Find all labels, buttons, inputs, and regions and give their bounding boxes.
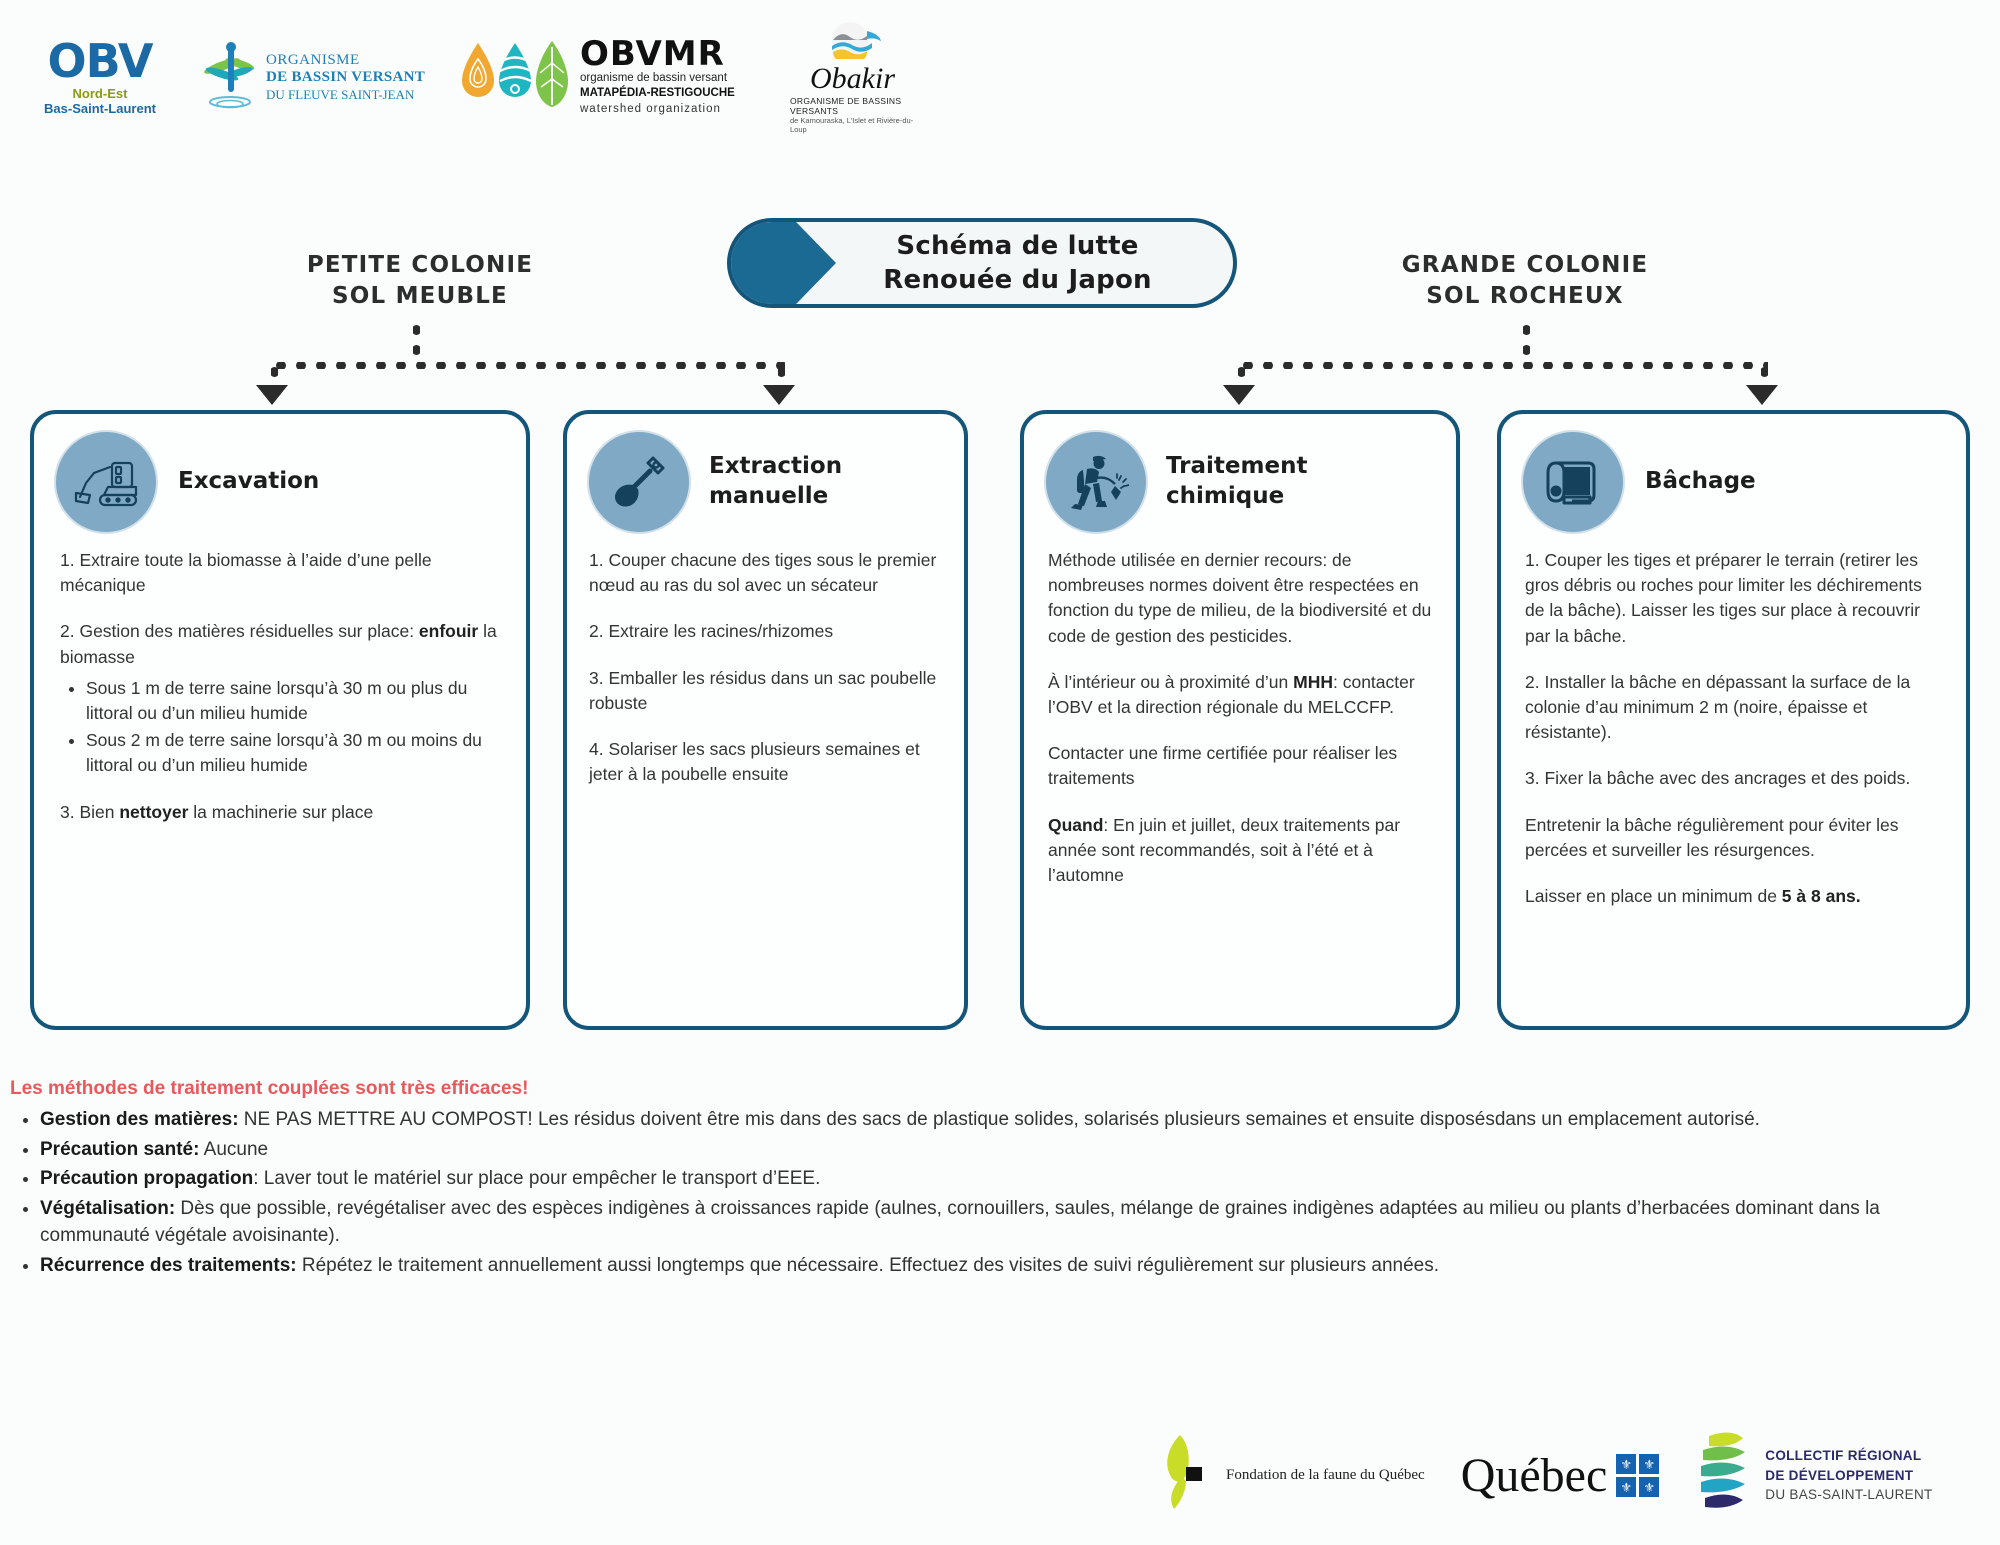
tarp-roll-icon [1523, 432, 1623, 532]
bird-leaf-icon [1160, 1433, 1216, 1518]
logo-obakir-line2: de Kamouraska, L'Islet et Rivière-du-Lou… [790, 116, 915, 134]
arrow-to-card-extraction [763, 385, 795, 405]
card-excavation-step-3: 3. Bien nettoyer la machinerie sur place [60, 800, 500, 825]
title-line2: Renouée du Japon [836, 263, 1199, 297]
card-extraction-step-2: 2. Extraire les racines/rhizomes [589, 619, 946, 644]
pesticide-sprayer-icon [1046, 432, 1146, 532]
title-line1: Schéma de lutte [836, 229, 1199, 263]
card-traitement-header: Traitementchimique [1024, 414, 1456, 532]
logo-sj-line2: DE BASSIN VERSANT [266, 69, 425, 87]
list-item: Récurrence des traitements: Répétez le t… [40, 1252, 1958, 1280]
card-traitement-title: Traitementchimique [1166, 452, 1307, 512]
card-traitement-body: Méthode utilisée en dernier recours: de … [1024, 532, 1456, 898]
group-left-line2: SOL MEUBLE [200, 281, 640, 312]
card-traitement-para-2: À l’intérieur ou à proximité d’un MHH: c… [1048, 670, 1438, 720]
notes-title: Les méthodes de traitement couplées sont… [10, 1078, 1958, 1100]
logo-quebec: Québec ⚜ ⚜ ⚜ ⚜ [1461, 1452, 1660, 1500]
card-bachage-header: Bâchage [1501, 414, 1966, 532]
group-right-line2: SOL ROCHEUX [1305, 281, 1745, 312]
group-left-line1: PETITE COLONIE [200, 250, 640, 281]
logo-obvmr-line1: organisme de bassin versant [580, 71, 735, 87]
logo-obv-mark: OBV [48, 38, 153, 84]
card-bachage-para-4: Entretenir la bâche régulièrement pour é… [1525, 813, 1946, 863]
group-right-line1: GRANDE COLONIE [1305, 250, 1745, 281]
list-item: Sous 2 m de terre saine lorsqu’à 30 m ou… [86, 728, 500, 778]
arrow-to-card-excavation [256, 385, 288, 405]
leaf-drop-fingerprint-icon [460, 39, 570, 114]
connector-right-branch [1238, 362, 1768, 369]
card-extraction-header: Extractionmanuelle [567, 414, 964, 532]
logo-obv-line1: Nord-Est [73, 87, 128, 102]
cards-row: Excavation 1. Extraire toute la biomasse… [0, 410, 2000, 1030]
logo-obvmr: OBVMR organisme de bassin versant MATAPÉ… [460, 37, 760, 118]
card-excavation: Excavation 1. Extraire toute la biomasse… [30, 410, 530, 1030]
logo-obakir-mark: Obakir [810, 64, 895, 94]
crd-line3: DU BAS-SAINT-LAURENT [1765, 1485, 1932, 1505]
logo-fondation-faune-quebec: Fondation de la faune du Québec [1160, 1433, 1425, 1518]
card-traitement-para-1: Méthode utilisée en dernier recours: de … [1048, 548, 1438, 649]
quebec-wordmark: Québec [1461, 1452, 1608, 1500]
fleur-de-lis-icon: ⚜ [1616, 1454, 1636, 1474]
arrow-to-card-bachage [1746, 385, 1778, 405]
card-bachage-step-2: 2. Installer la bâche en dépassant la su… [1525, 670, 1946, 746]
arrow-to-card-traitement [1223, 385, 1255, 405]
fleur-de-lis-icon: ⚜ [1639, 1454, 1659, 1474]
quebec-flag-icon: ⚜ ⚜ ⚜ ⚜ [1616, 1454, 1659, 1497]
title-text: Schéma de lutte Renouée du Japon [836, 229, 1233, 298]
logo-sj-line3: DU FLEUVE SAINT-JEAN [266, 87, 425, 102]
card-excavation-sublist: Sous 1 m de terre saine lorsqu’à 30 m ou… [60, 676, 500, 779]
list-item: Précaution santé: Aucune [40, 1136, 1958, 1164]
card-extraction-title: Extractionmanuelle [709, 452, 842, 512]
logo-obakir: Obakir ORGANISME DE BASSINS VERSANTS de … [790, 21, 915, 134]
list-item: Végétalisation: Dès que possible, revégé… [40, 1195, 1958, 1250]
crd-text: COLLECTIF RÉGIONAL DE DÉVELOPPEMENT DU B… [1765, 1446, 1932, 1505]
card-excavation-body: 1. Extraire toute la biomasse à l’aide d… [34, 532, 526, 835]
connector-right-down-b [1761, 362, 1768, 384]
card-extraction-step-3: 3. Emballer les résidus dans un sac poub… [589, 666, 946, 716]
list-item: Précaution propagation: Laver tout le ma… [40, 1165, 1958, 1193]
banner-arrow-shape [731, 222, 836, 304]
list-item: Sous 1 m de terre saine lorsqu’à 30 m ou… [86, 676, 500, 726]
dragonfly-icon [200, 40, 258, 115]
shovel-icon [589, 432, 689, 532]
card-extraction-step-4: 4. Solariser les sacs plusieurs semaines… [589, 737, 946, 787]
card-traitement-para-3: Contacter une firme certifiée pour réali… [1048, 741, 1438, 791]
excavator-icon [56, 432, 156, 532]
footer-logos: Fondation de la faune du Québec Québec ⚜… [1160, 1418, 1990, 1533]
logo-obvmr-line2: MATAPÉDIA-RESTIGOUCHE [580, 86, 735, 102]
logo-sj-line1: ORGANISME [266, 52, 425, 70]
fleur-de-lis-icon: ⚜ [1616, 1477, 1636, 1497]
landscape-circle-icon [820, 21, 886, 64]
logo-obv-nord-est: OBV Nord-Est Bas-Saint-Laurent [30, 38, 170, 117]
card-bachage-para-5: Laisser en place un minimum de 5 à 8 ans… [1525, 884, 1946, 909]
card-extraction-body: 1. Couper chacune des tiges sous le prem… [567, 532, 964, 797]
logo-collectif-regional-developpement: COLLECTIF RÉGIONAL DE DÉVELOPPEMENT DU B… [1695, 1428, 1932, 1523]
connector-left-down-b [778, 362, 785, 384]
connector-left-down-a [271, 362, 278, 384]
card-bachage-step-1: 1. Couper les tiges et préparer le terra… [1525, 548, 1946, 649]
logo-obv-fleuve-saint-jean: ORGANISME DE BASSIN VERSANT DU FLEUVE SA… [200, 40, 430, 115]
card-traitement-chimique: Traitementchimique Méthode utilisée en d… [1020, 410, 1460, 1030]
title-banner: Schéma de lutte Renouée du Japon [727, 218, 1237, 308]
spiral-ribbon-icon [1695, 1428, 1753, 1523]
logo-obvmr-line3: watershed organization [580, 102, 735, 118]
header-logos: OBV Nord-Est Bas-Saint-Laurent ORGANISME… [30, 22, 1030, 132]
card-bachage-body: 1. Couper les tiges et préparer le terra… [1501, 532, 1966, 919]
card-bachage-title: Bâchage [1645, 467, 1756, 497]
notes-section: Les méthodes de traitement couplées sont… [8, 1078, 1958, 1281]
group-heading-grande-colonie: GRANDE COLONIE SOL ROCHEUX [1305, 250, 1745, 312]
card-excavation-title: Excavation [178, 467, 319, 497]
card-extraction-step-1: 1. Couper chacune des tiges sous le prem… [589, 548, 946, 598]
card-bachage-step-3: 3. Fixer la bâche avec des ancrages et d… [1525, 766, 1946, 791]
logo-obv-line2: Bas-Saint-Laurent [44, 102, 156, 117]
crd-line1: COLLECTIF RÉGIONAL [1765, 1446, 1932, 1466]
notes-list: Gestion des matières: NE PAS METTRE AU C… [8, 1106, 1958, 1279]
logo-obvmr-mark: OBVMR [580, 37, 735, 71]
fleur-de-lis-icon: ⚜ [1639, 1477, 1659, 1497]
group-heading-petite-colonie: PETITE COLONIE SOL MEUBLE [200, 250, 640, 312]
card-extraction-manuelle: Extractionmanuelle 1. Couper chacune des… [563, 410, 968, 1030]
card-excavation-step-2: 2. Gestion des matières résiduelles sur … [60, 619, 500, 669]
logo-obakir-line1: ORGANISME DE BASSINS VERSANTS [790, 96, 915, 116]
list-item: Gestion des matières: NE PAS METTRE AU C… [40, 1106, 1958, 1134]
connector-left-stem [413, 320, 420, 364]
connector-right-stem [1523, 320, 1530, 364]
connector-right-down-a [1238, 362, 1245, 384]
fondation-label: Fondation de la faune du Québec [1226, 1467, 1425, 1484]
card-excavation-step-1: 1. Extraire toute la biomasse à l’aide d… [60, 548, 500, 598]
card-traitement-para-4: Quand: En juin et juillet, deux traiteme… [1048, 813, 1438, 889]
connector-left-branch [271, 362, 785, 369]
crd-line2: DE DÉVELOPPEMENT [1765, 1466, 1932, 1486]
card-excavation-header: Excavation [34, 414, 526, 532]
card-bachage: Bâchage 1. Couper les tiges et préparer … [1497, 410, 1970, 1030]
